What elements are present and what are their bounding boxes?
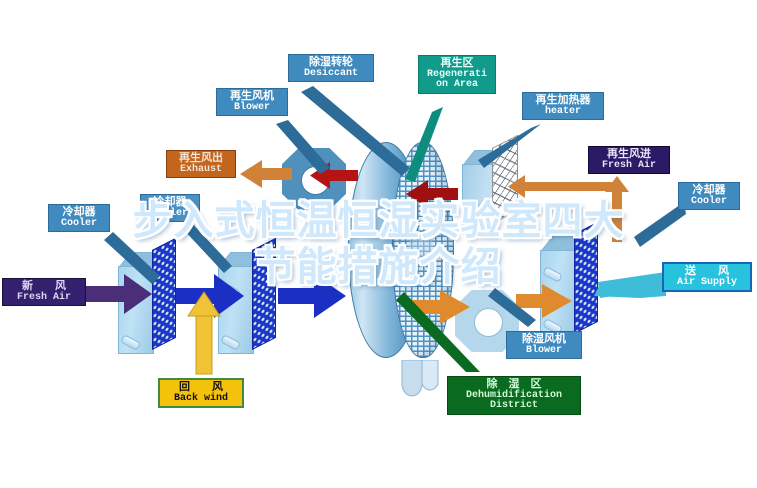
label-en: Desiccant bbox=[293, 69, 369, 80]
label-fresh-air: 新 风 Fresh Air bbox=[2, 278, 86, 306]
label-regen-area: 再生区 Regenerati on Area bbox=[418, 55, 496, 94]
diagram-canvas: 除湿转轮 Desiccant 再生风机 Blower 再生区 Regenerat… bbox=[0, 0, 757, 488]
label-air-supply: 送 风 Air Supply bbox=[662, 262, 752, 292]
label-en: Regenerati on Area bbox=[423, 70, 491, 91]
label-cn: 再生加热器 bbox=[527, 95, 599, 107]
label-cn: 回 风 bbox=[164, 382, 238, 394]
label-en-2: District bbox=[452, 401, 576, 412]
label-dehum-blower: 除湿风机 Blower bbox=[506, 331, 582, 359]
label-cn: 冷却器 bbox=[683, 185, 735, 197]
label-en: Blower bbox=[511, 346, 577, 357]
label-en: Back wind bbox=[164, 394, 238, 405]
label-regen-blower: 再生风机 Blower bbox=[216, 88, 288, 116]
label-dehum-district: 除 湿 区 Dehumidification District bbox=[447, 376, 581, 415]
label-desiccant-wheel: 除湿转轮 Desiccant bbox=[288, 54, 374, 82]
label-back-wind: 回 风 Back wind bbox=[158, 378, 244, 408]
label-cooler-left-1: 冷却器 Cooler bbox=[48, 204, 110, 232]
label-cn: 除 湿 区 bbox=[452, 379, 576, 391]
label-cooler-left-2: 冷却器 Cooler bbox=[140, 194, 200, 222]
label-regen-heater: 再生加热器 heater bbox=[522, 92, 604, 120]
label-cooler-right: 冷却器 Cooler bbox=[678, 182, 740, 210]
label-en: Cooler bbox=[145, 209, 195, 220]
label-en: Air Supply bbox=[668, 278, 746, 289]
label-en: Cooler bbox=[683, 197, 735, 208]
label-cn: 再生风进 bbox=[593, 149, 665, 161]
label-en: Fresh Air bbox=[593, 161, 665, 172]
label-cn: 冷却器 bbox=[53, 207, 105, 219]
label-cn: 冷却器 bbox=[145, 197, 195, 209]
label-regen-fresh-air: 再生风进 Fresh Air bbox=[588, 146, 670, 174]
label-cn: 除湿风机 bbox=[511, 334, 577, 346]
connector-lines bbox=[0, 0, 757, 488]
label-cn: 除湿转轮 bbox=[293, 57, 369, 69]
label-en: Fresh Air bbox=[7, 293, 81, 304]
label-en: Blower bbox=[221, 103, 283, 114]
label-cn: 送 风 bbox=[668, 266, 746, 278]
label-cn: 再生区 bbox=[423, 58, 491, 70]
label-cn: 再生风机 bbox=[221, 91, 283, 103]
label-exhaust: 再生风出 Exhaust bbox=[166, 150, 236, 178]
label-en: Exhaust bbox=[171, 165, 231, 176]
label-cn: 新 风 bbox=[7, 281, 81, 293]
label-en: Cooler bbox=[53, 219, 105, 230]
label-en: heater bbox=[527, 107, 599, 118]
label-cn: 再生风出 bbox=[171, 153, 231, 165]
